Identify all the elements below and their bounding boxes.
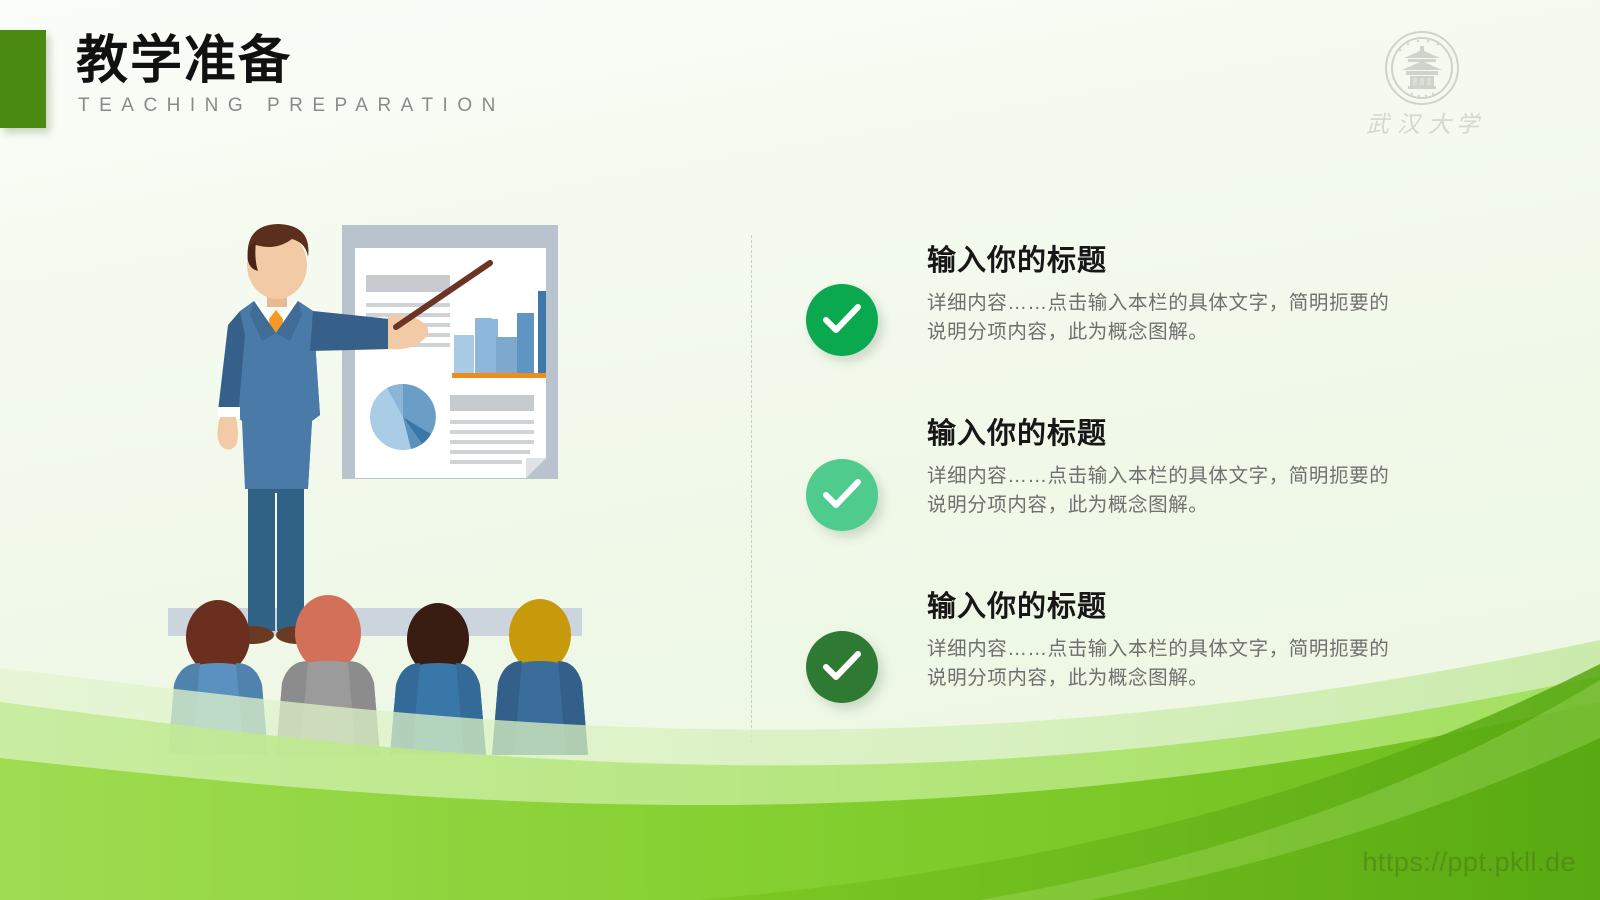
- svg-text:武: 武: [1366, 112, 1392, 138]
- page-title: 教学准备: [76, 30, 505, 92]
- vertical-divider: [751, 235, 752, 743]
- check-icon: [806, 459, 878, 531]
- accent-block: [0, 30, 46, 128]
- list-item[interactable]: 输入你的标题 详细内容……点击输入本栏的具体文字，简明扼要的说明分项内容，此为概…: [806, 228, 1506, 401]
- list-item[interactable]: 输入你的标题 详细内容……点击输入本栏的具体文字，简明扼要的说明分项内容，此为概…: [806, 401, 1506, 574]
- bar-chart-baseline: [452, 373, 546, 378]
- list-item-title: 输入你的标题: [927, 588, 1507, 626]
- title-group: 教学准备 TEACHING PREPARATION: [76, 30, 505, 117]
- list-item-body: 详细内容……点击输入本栏的具体文字，简明扼要的说明分项内容，此为概念图解。: [927, 289, 1402, 347]
- svg-text:学: 学: [1456, 112, 1482, 138]
- bullet-list: 输入你的标题 详细内容……点击输入本栏的具体文字，简明扼要的说明分项内容，此为概…: [806, 228, 1506, 747]
- list-item-title: 输入你的标题: [927, 415, 1507, 453]
- svg-text:汉: 汉: [1397, 112, 1423, 138]
- list-item-text: 输入你的标题 详细内容……点击输入本栏的具体文字，简明扼要的说明分项内容，此为概…: [927, 588, 1507, 693]
- presenter-illustration: [150, 215, 610, 755]
- check-icon: [806, 631, 878, 703]
- slide: 教学准备 TEACHING PREPARATION: [0, 0, 1600, 900]
- list-item-title: 输入你的标题: [927, 242, 1507, 280]
- slide-header: 教学准备 TEACHING PREPARATION: [0, 0, 1600, 150]
- pie-chart: [370, 384, 436, 450]
- wuhan-university-logo: 武 汉 大 学: [1356, 28, 1488, 140]
- list-item-body: 详细内容……点击输入本栏的具体文字，简明扼要的说明分项内容，此为概念图解。: [927, 635, 1402, 693]
- list-item-text: 输入你的标题 详细内容……点击输入本栏的具体文字，简明扼要的说明分项内容，此为概…: [927, 415, 1507, 520]
- svg-text:大: 大: [1428, 112, 1453, 138]
- list-item[interactable]: 输入你的标题 详细内容……点击输入本栏的具体文字，简明扼要的说明分项内容，此为概…: [806, 574, 1506, 747]
- watermark-url: https://ppt.pkll.de: [1362, 847, 1576, 878]
- list-item-text: 输入你的标题 详细内容……点击输入本栏的具体文字，简明扼要的说明分项内容，此为概…: [927, 242, 1507, 347]
- check-icon: [806, 284, 878, 356]
- list-item-body: 详细内容……点击输入本栏的具体文字，简明扼要的说明分项内容，此为概念图解。: [927, 462, 1402, 520]
- page-subtitle: TEACHING PREPARATION: [78, 95, 505, 117]
